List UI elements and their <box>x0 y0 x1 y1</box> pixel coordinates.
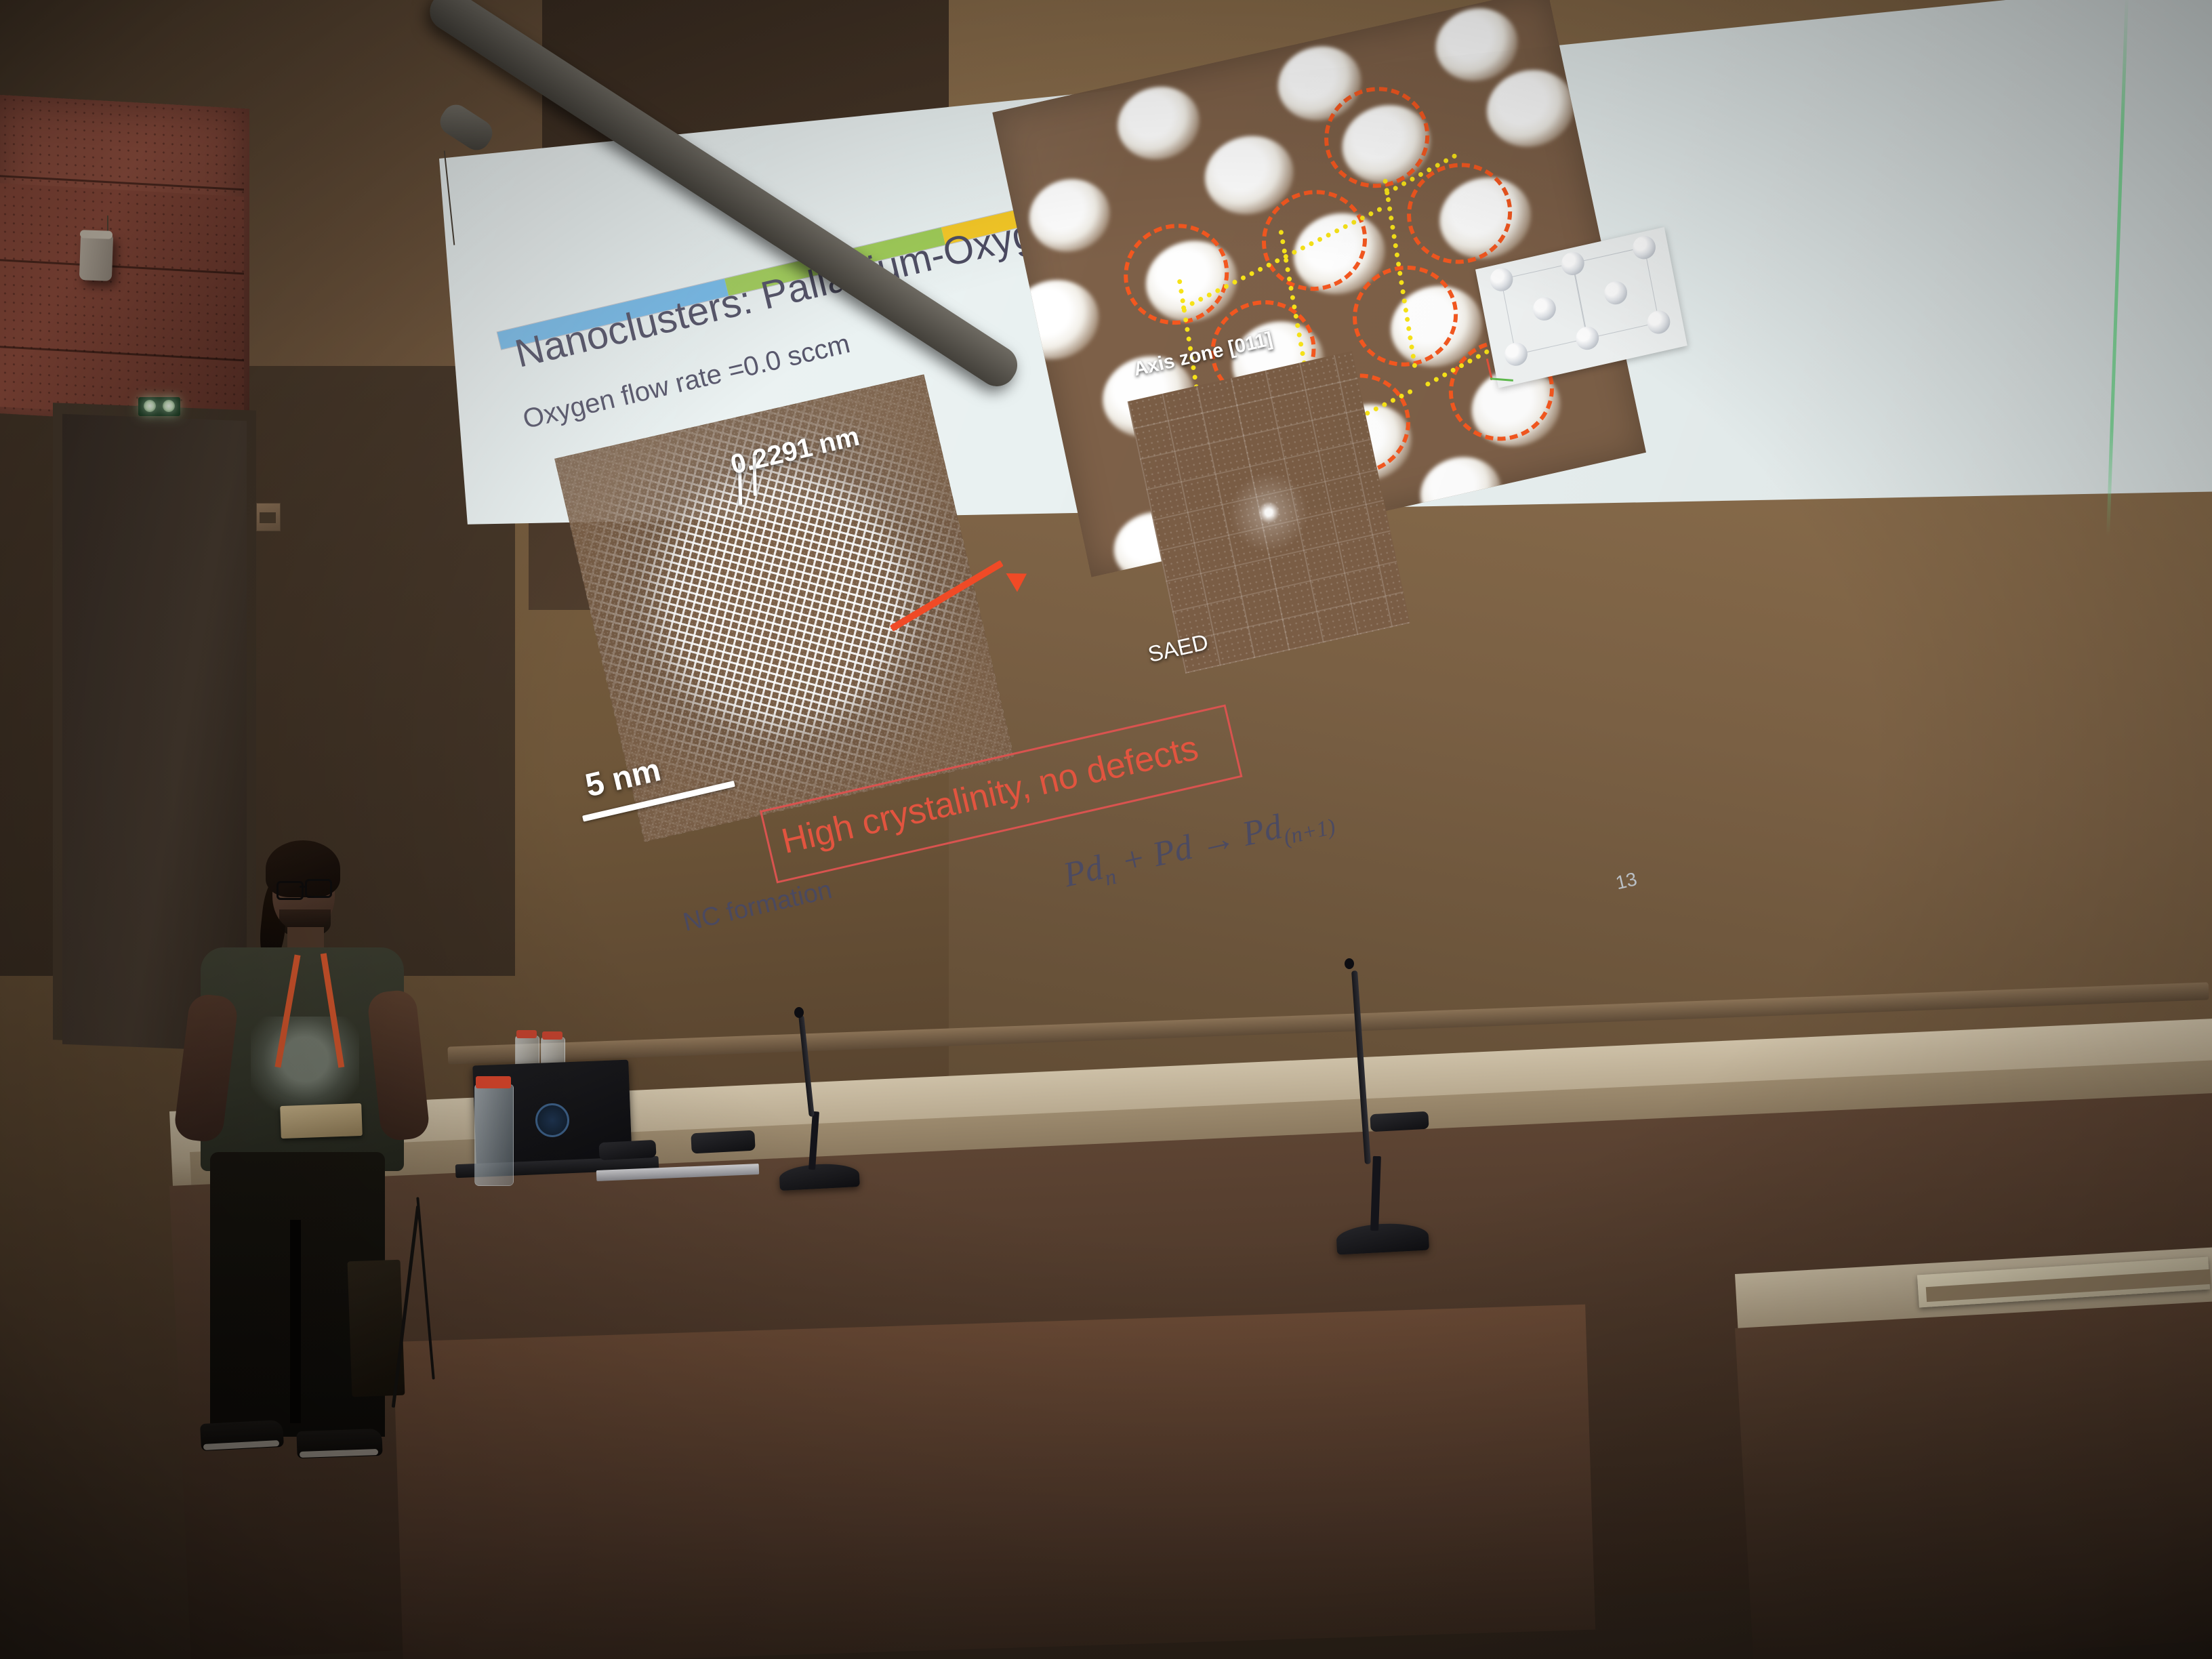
equation-middle: + Pd → Pd <box>1109 807 1286 883</box>
glasses-right-lens-icon <box>305 879 332 898</box>
bottle-cap <box>542 1031 562 1040</box>
lecture-hall-photo: Nanoclusters: Palladium-Oxygen addition … <box>0 0 2212 1659</box>
microphone-capsule-rear <box>794 1007 804 1018</box>
name-badge <box>280 1103 363 1139</box>
wall-outlet-socket <box>260 512 276 523</box>
formation-equation: Pdn + Pd → Pd(n+1) <box>1060 795 1338 900</box>
glasses-bridge <box>300 886 306 888</box>
equation-pd-1: Pd <box>1060 848 1107 895</box>
slide-number: 13 <box>1614 868 1639 894</box>
wall-speaker-icon <box>79 232 113 281</box>
microphone-capsule-front <box>1345 958 1354 969</box>
exit-lamp-left <box>144 400 156 412</box>
zoom-arrow-head-icon <box>1006 565 1032 592</box>
microphone-cable-puck <box>1370 1111 1429 1132</box>
cable-puck <box>598 1140 656 1160</box>
bottle-cap <box>516 1030 537 1038</box>
side-desk-front <box>1735 1300 2212 1659</box>
bottle-cap-front <box>476 1076 511 1088</box>
glasses-left-lens-icon <box>276 881 304 900</box>
slide-content: Nanoclusters: Palladium-Oxygen addition … <box>474 0 2203 1002</box>
front-bench-block <box>393 1305 1595 1659</box>
nc-formation-label: NC formation <box>680 876 835 938</box>
atom-marker-circle <box>1114 213 1238 335</box>
wall-speaker-top <box>80 230 112 239</box>
water-bottle-front[interactable] <box>474 1084 514 1186</box>
presenter-leg-gap <box>290 1220 301 1423</box>
equation-subscript-n1: (n+1) <box>1282 815 1338 850</box>
cable-puck-2 <box>691 1130 755 1154</box>
exit-lamp-right <box>163 400 175 412</box>
panel-shading <box>0 94 249 427</box>
